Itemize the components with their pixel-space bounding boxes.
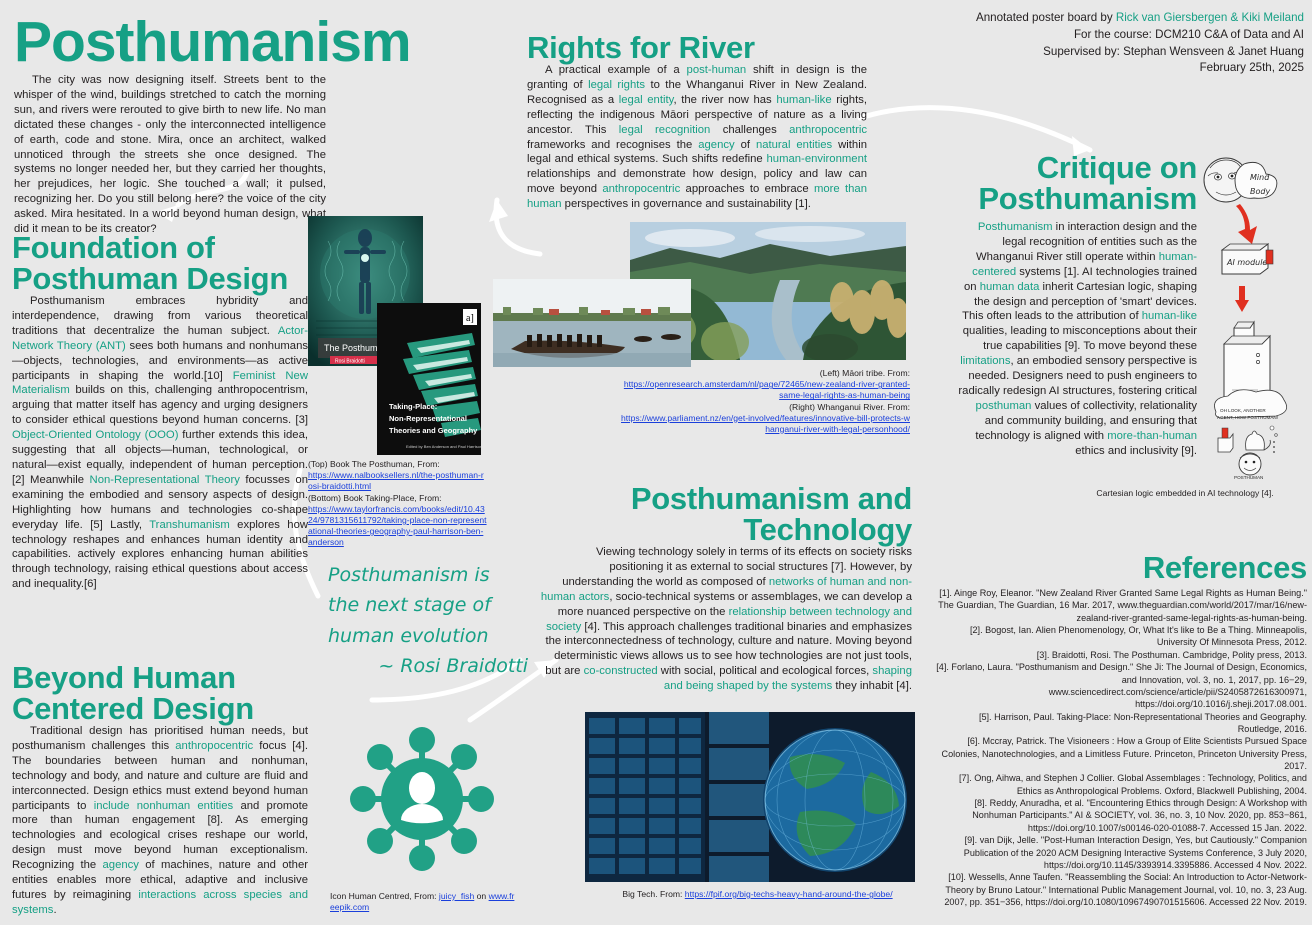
highlight-anthropocentric-2: anthropocentric bbox=[789, 124, 867, 136]
posthuman-designer-scene: OH LOOK, ANOTHER AGENT, HOW POSTHUMAN! bbox=[1215, 390, 1287, 480]
rights-t12: perspectives in governance and sustainab… bbox=[562, 198, 811, 210]
highlight-post-human: post-human bbox=[687, 64, 747, 76]
books-caption-bottom-label: (Bottom) Book Taking-Place, From: bbox=[308, 493, 488, 504]
book2-title-l2: Non-Representational bbox=[389, 414, 467, 423]
section-foundation: Foundation of Posthuman Design Posthuman… bbox=[12, 232, 308, 592]
credit-line-course: For the course: DCM210 C&A of Data and A… bbox=[976, 27, 1304, 44]
reference-item: [6]. Mccray, Patrick. The Visioneers : H… bbox=[935, 735, 1307, 772]
critique-t7: ethics and inclusivity [9]. bbox=[1075, 445, 1197, 457]
reference-item: [1]. Ainge Roy, Eleanor. "New Zealand Ri… bbox=[935, 587, 1307, 624]
tech-t5: they inhabit [4]. bbox=[832, 680, 912, 692]
rights-t8: of bbox=[735, 139, 756, 151]
highlight-ooo: Object-Oriented Ontology (OOO) bbox=[12, 429, 178, 441]
highlight-anthropocentric: anthropocentric bbox=[175, 740, 253, 752]
book2-title-l3: Theories and Geography bbox=[389, 426, 478, 435]
intro-text: The city was now designing itself. Stree… bbox=[14, 74, 326, 235]
section-beyond-human-centered: Beyond Human Centered Design Traditional… bbox=[12, 662, 308, 918]
cartesian-sketch-illustration: Mind Body AI module bbox=[1196, 150, 1308, 480]
reference-item: [9]. van Dijk, Jelle. "Post-Human Intera… bbox=[935, 834, 1307, 871]
tech-paragraph: Viewing technology solely in terms of it… bbox=[540, 545, 912, 694]
reference-item: [3]. Braidotti, Rosi. The Posthuman. Cam… bbox=[935, 649, 1307, 661]
section-references: References [1]. Ainge Roy, Eleanor. "New… bbox=[935, 552, 1307, 908]
book1-author-text: Rosi Braidotti bbox=[335, 359, 365, 365]
descartes-head-icon: Mind Body bbox=[1204, 158, 1277, 202]
foundation-heading: Foundation of Posthuman Design bbox=[12, 232, 308, 294]
river-caption-left-url[interactable]: https://openresearch.amsterdam/nl/page/7… bbox=[620, 379, 910, 401]
credit-line-date: February 25th, 2025 bbox=[976, 60, 1304, 77]
rights-t6: challenges bbox=[710, 124, 789, 136]
highlight-human-like-2: human-like bbox=[1142, 310, 1197, 322]
thought-line-1-text: OH LOOK, ANOTHER bbox=[1220, 408, 1266, 413]
smart-device-icon bbox=[1224, 322, 1270, 398]
icon-caption-mid: on bbox=[474, 891, 488, 901]
highlight-agency-2: agency bbox=[698, 139, 734, 151]
beyond-heading: Beyond Human Centered Design bbox=[12, 662, 308, 724]
highlight-limitations: limitations bbox=[960, 355, 1010, 367]
bigtech-caption: Big Tech. From: https://fpif.org/big-tec… bbox=[600, 889, 915, 900]
highlight-nonhuman-entities: include nonhuman entities bbox=[94, 800, 234, 812]
human-centred-icon bbox=[335, 712, 510, 887]
highlight-legal-recognition: legal recognition bbox=[619, 124, 711, 136]
photo-maori-tribe bbox=[493, 279, 691, 367]
quote-line-3: human evolution bbox=[328, 621, 528, 651]
references-heading: References bbox=[935, 552, 1307, 583]
reference-item: [10]. Wessells, Anne Taufen. "Reassembli… bbox=[935, 871, 1307, 908]
books-caption-bottom-url[interactable]: https://www.taylorfrancis.com/books/edit… bbox=[308, 504, 488, 549]
book2-title-l1: Taking-Place: bbox=[389, 402, 437, 411]
page-title: Posthumanism bbox=[14, 14, 514, 71]
quote-line-1: Posthumanism is bbox=[328, 560, 528, 590]
bigtech-caption-url[interactable]: https://fpif.org/big-techs-heavy-hand-ar… bbox=[685, 889, 893, 899]
reference-item: [4]. Forlano, Laura. "Posthumanism and D… bbox=[935, 661, 1307, 710]
rights-paragraph: A practical example of a post-human shif… bbox=[527, 63, 867, 212]
intro-paragraph: The city was now designing itself. Stree… bbox=[14, 73, 326, 237]
river-caption-left-label: (Left) Māori tribe. From: bbox=[620, 368, 910, 379]
thought-line-2-text: AGENT, HOW POSTHUMAN! bbox=[1217, 415, 1278, 420]
designer-line-1-text: POSTHUMAN bbox=[1234, 475, 1263, 480]
sketch-caption: Cartesian logic embedded in AI technolog… bbox=[1060, 488, 1310, 499]
book2-editors-text: Edited by Ben Anderson and Paul Harrison bbox=[406, 444, 481, 449]
highlight-posthumanism: Posthumanism bbox=[978, 221, 1053, 233]
highlight-transhumanism: Transhumanism bbox=[149, 519, 230, 531]
ai-module-label-text: AI module bbox=[1226, 258, 1267, 267]
intro-block: Posthumanism The city was now designing … bbox=[14, 14, 514, 237]
highlight-legal-entity: legal entity bbox=[619, 94, 674, 106]
references-list: [1]. Ainge Roy, Eleanor. "New Zealand Ri… bbox=[935, 587, 1307, 908]
highlight-human-data: human data bbox=[980, 281, 1040, 293]
body-label-text: Body bbox=[1250, 187, 1270, 196]
highlight-human-environment: human-environment bbox=[767, 153, 867, 165]
ai-module-box: AI module bbox=[1222, 244, 1273, 274]
book-cover-taking-place: a] Taking-Place: Non-Representational Th… bbox=[377, 303, 481, 455]
quote-line-2: the next stage of bbox=[328, 590, 528, 620]
poster-credits: Annotated poster board by Rick van Giers… bbox=[976, 10, 1304, 77]
reference-item: [5]. Harrison, Paul. Taking-Place: Non-R… bbox=[935, 711, 1307, 736]
braidotti-quote: Posthumanism is the next stage of human … bbox=[328, 560, 528, 682]
reference-item: [7]. Ong, Aihwa, and Stephen J Collier. … bbox=[935, 772, 1307, 797]
icon-attribution-caption: Icon Human Centred, From: juicy_fish on … bbox=[330, 891, 515, 913]
credit-prefix: Annotated poster board by bbox=[976, 11, 1116, 24]
foundation-t1: Posthumanism embraces hybridity and inte… bbox=[12, 295, 308, 337]
section-rights-for-river: Rights for River A practical example of … bbox=[527, 32, 867, 212]
quote-attribution: ~ Rosi Braidotti bbox=[328, 651, 528, 681]
critique-heading: Critique on Posthumanism bbox=[957, 152, 1197, 214]
rights-t4: , the river now has bbox=[673, 94, 776, 106]
beyond-t5: . bbox=[53, 904, 56, 916]
books-caption-top-label: (Top) Book The Posthuman, From: bbox=[308, 459, 488, 470]
mind-label-text: Mind bbox=[1250, 173, 1270, 182]
highlight-co-constructed: co-constructed bbox=[584, 665, 658, 677]
section-posthumanism-technology: Posthumanism and Technology Viewing tech… bbox=[540, 483, 912, 694]
photo-big-tech bbox=[585, 712, 915, 882]
tech-t4: with social, political and ecological fo… bbox=[658, 665, 873, 677]
critique-paragraph: Posthumanism in interaction design and t… bbox=[957, 220, 1197, 459]
highlight-more-than-human-2: more-than-human bbox=[1107, 430, 1197, 442]
highlight-natural-entities: natural entities bbox=[756, 139, 832, 151]
books-caption-top-url[interactable]: https://www.nalbooksellers.nl/the-posthu… bbox=[308, 470, 488, 492]
book2-logo-text: a] bbox=[466, 313, 474, 324]
highlight-human-like: human-like bbox=[776, 94, 831, 106]
reference-item: [8]. Reddy, Anuradha, et al. "Encounteri… bbox=[935, 797, 1307, 834]
highlight-non-representational-theory: Non-Representational Theory bbox=[90, 474, 240, 486]
credit-line-supervisors: Supervised by: Stephan Wensveen & Janet … bbox=[976, 44, 1304, 61]
bigtech-caption-label: Big Tech. From: bbox=[622, 889, 684, 899]
rights-t1: A practical example of a bbox=[545, 64, 687, 76]
rights-heading: Rights for River bbox=[527, 32, 867, 63]
credit-line-authors: Annotated poster board by Rick van Giers… bbox=[976, 10, 1304, 27]
highlight-agency: agency bbox=[103, 859, 139, 871]
tech-heading: Posthumanism and Technology bbox=[540, 483, 912, 545]
beyond-paragraph: Traditional design has prioritised human… bbox=[12, 724, 308, 918]
poster-board: Annotated poster board by Rick van Giers… bbox=[0, 0, 1312, 925]
highlight-posthuman: posthuman bbox=[976, 400, 1032, 412]
red-arrow-1 bbox=[1236, 204, 1257, 244]
river-photos-caption: (Left) Māori tribe. From: https://openre… bbox=[620, 368, 910, 435]
section-critique: Critique on Posthumanism Posthumanism in… bbox=[957, 152, 1197, 459]
books-caption: (Top) Book The Posthuman, From: https://… bbox=[308, 459, 488, 548]
river-caption-right-label: (Right) Whanganui River. From: bbox=[620, 402, 910, 413]
reference-item: [2]. Bogost, Ian. Alien Phenomenology, O… bbox=[935, 624, 1307, 649]
foundation-paragraph: Posthumanism embraces hybridity and inte… bbox=[12, 294, 308, 592]
critique-t4: qualities, leading to misconceptions abo… bbox=[963, 325, 1197, 352]
rights-t7: frameworks and recognises the bbox=[527, 139, 698, 151]
river-caption-right-url[interactable]: https://www.parliament.nz/en/get-involve… bbox=[620, 413, 910, 435]
credit-author-names: Rick van Giersbergen & Kiki Meiland bbox=[1116, 11, 1304, 24]
highlight-legal-rights: legal rights bbox=[588, 79, 645, 91]
icon-caption-label: Icon Human Centred, From: bbox=[330, 891, 439, 901]
rights-t11: approaches to embrace bbox=[680, 183, 814, 195]
red-arrow-2 bbox=[1235, 286, 1249, 312]
icon-caption-link-author[interactable]: juicy_fish bbox=[439, 891, 474, 901]
highlight-anthropocentric-3: anthropocentric bbox=[602, 183, 680, 195]
